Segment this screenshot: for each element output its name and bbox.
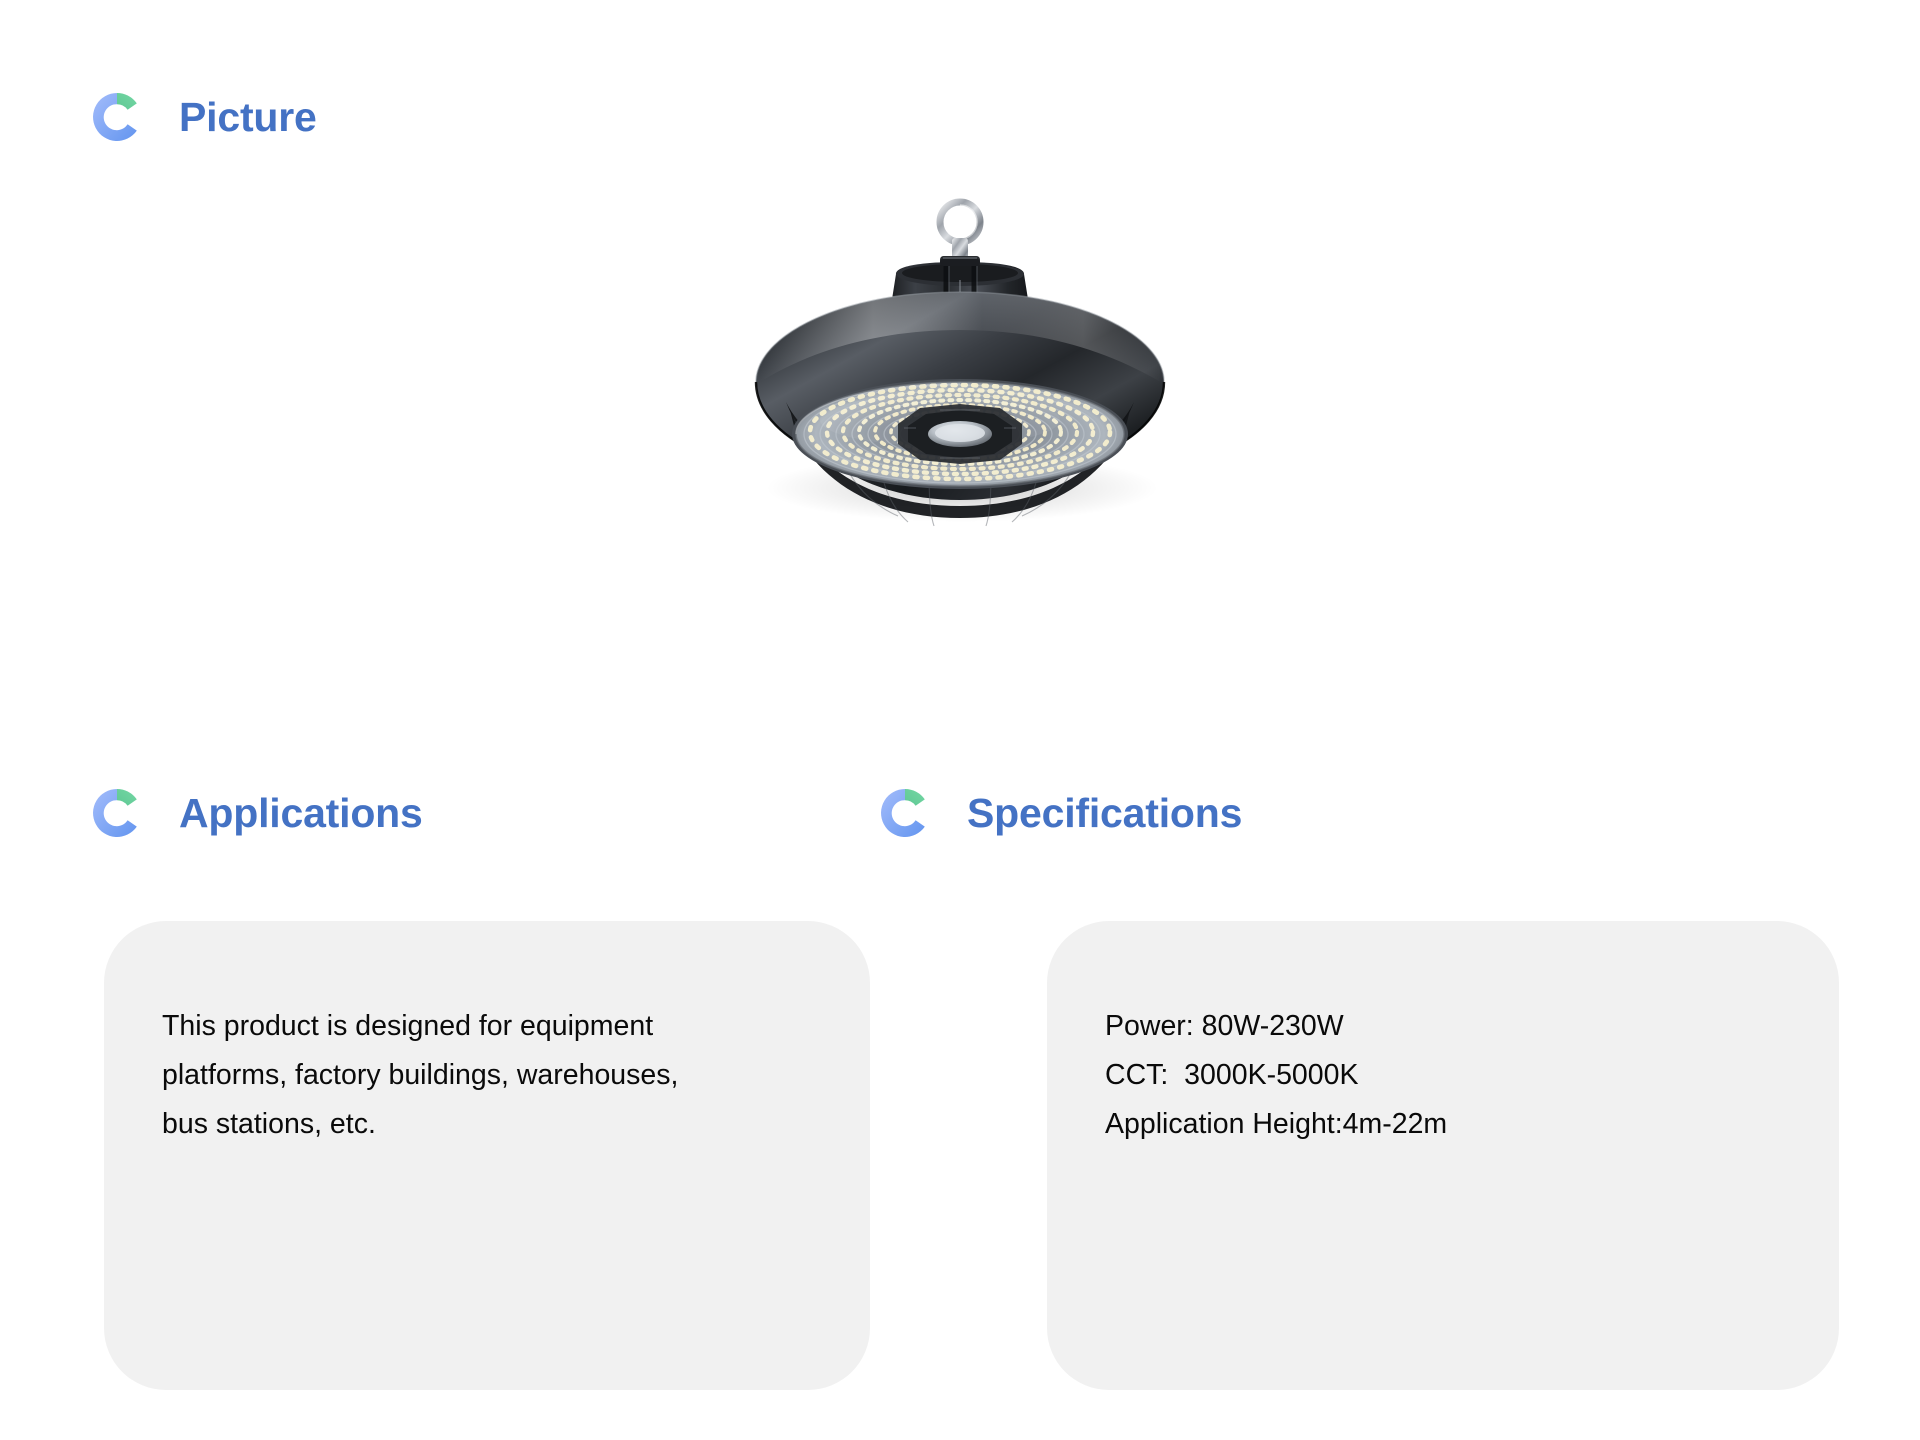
specifications-list: Power: 80W-230W CCT: 3000K-5000K Applica… — [1105, 1002, 1781, 1149]
list-item: Power: 80W-230W — [1105, 1002, 1781, 1051]
led-high-bay-light-image — [640, 188, 1280, 528]
list-item: Application Height:4m-22m — [1105, 1100, 1781, 1149]
section-title-applications: Applications — [179, 793, 423, 834]
brand-c-ring-icon — [86, 86, 148, 148]
brand-c-ring-icon — [86, 782, 148, 844]
specifications-card: Power: 80W-230W CCT: 3000K-5000K Applica… — [1047, 921, 1839, 1390]
list-item: CCT: 3000K-5000K — [1105, 1051, 1781, 1100]
applications-card: This product is designed for equipment p… — [104, 921, 870, 1390]
section-title-specifications: Specifications — [967, 793, 1242, 834]
applications-body-text: This product is designed for equipment p… — [162, 1002, 812, 1149]
section-heading-applications: Applications — [86, 782, 423, 844]
section-heading-specifications: Specifications — [874, 782, 1242, 844]
section-title-picture: Picture — [179, 97, 317, 138]
section-heading-picture: Picture — [86, 86, 317, 148]
brand-c-ring-icon — [874, 782, 936, 844]
